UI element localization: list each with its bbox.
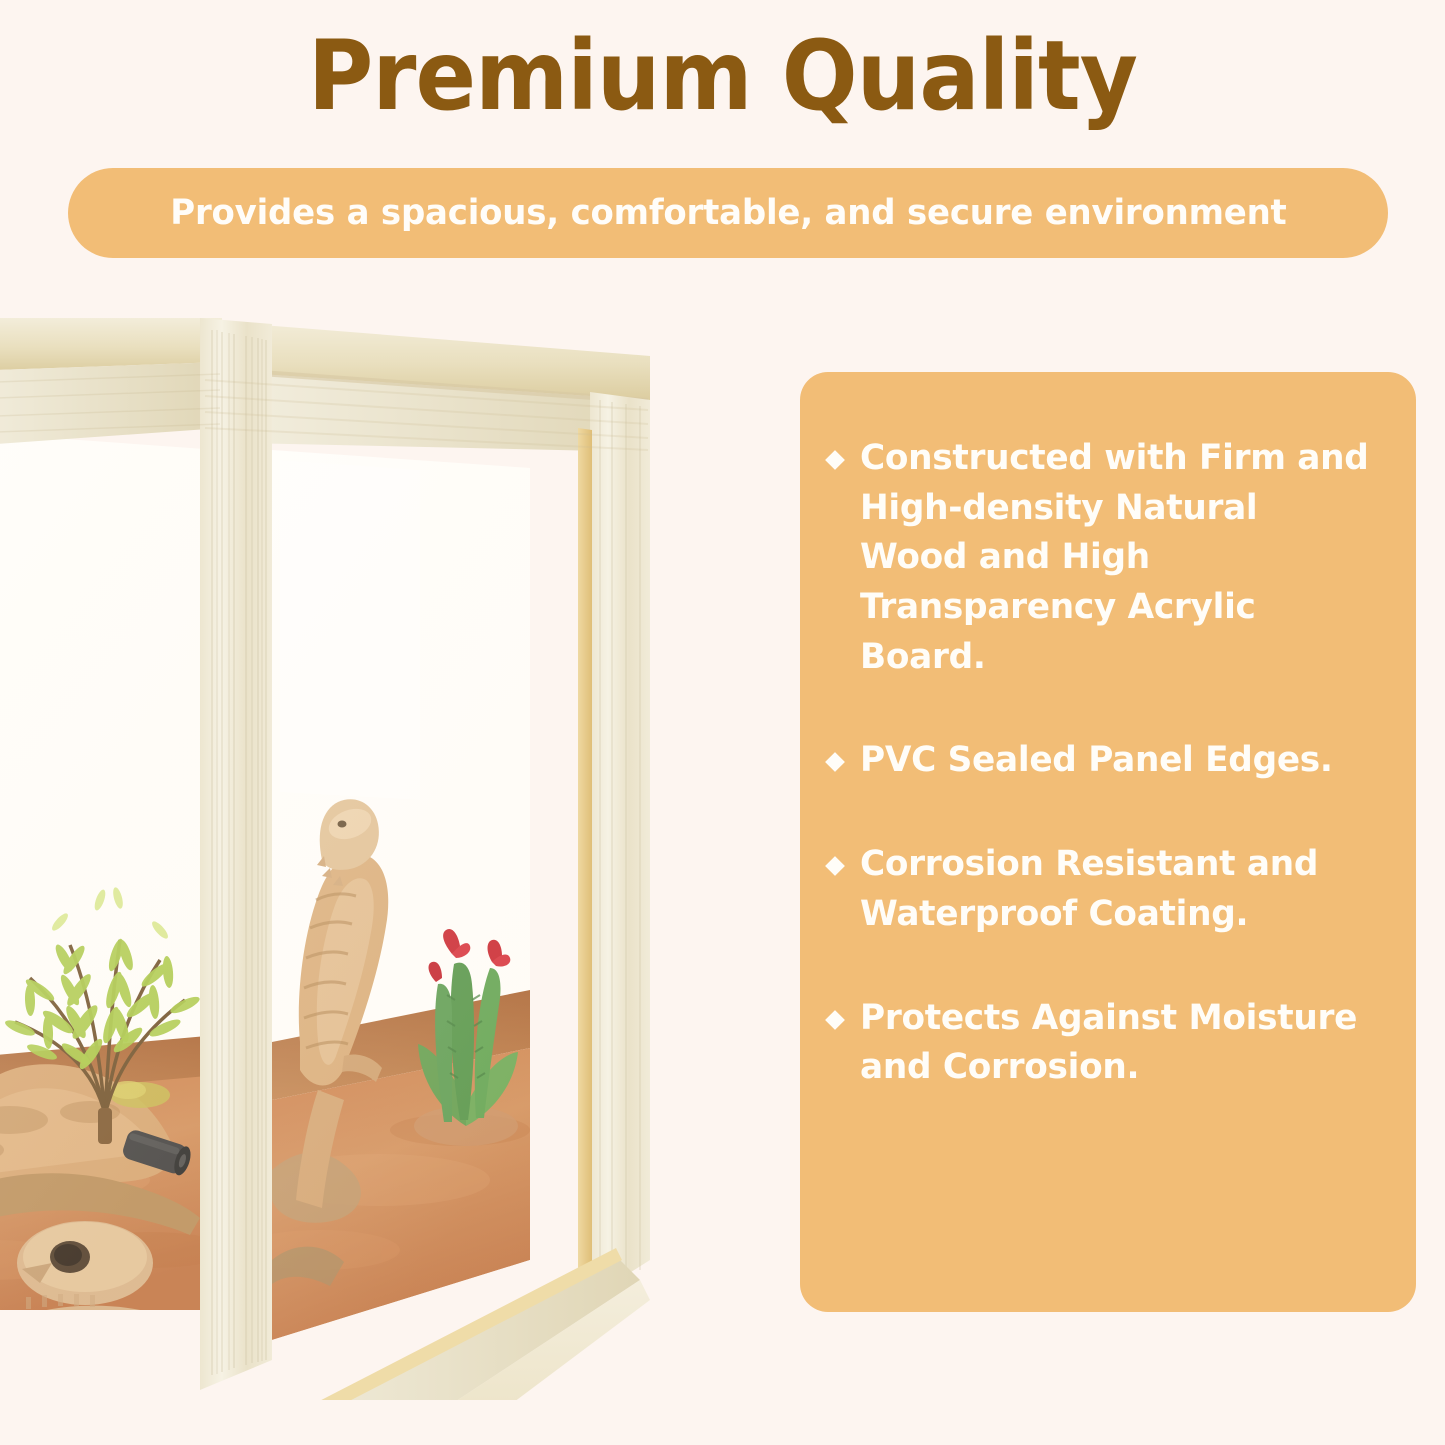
subtitle-banner: Provides a spacious, comfortable, and se… [68, 168, 1388, 258]
subtitle-text: Provides a spacious, comfortable, and se… [170, 193, 1286, 233]
product-photo-terrarium [0, 300, 700, 1400]
feature-item: Constructed with Firm and High-density N… [828, 434, 1382, 682]
terrarium-illustration [0, 300, 700, 1400]
feature-item: Corrosion Resistant and Waterproof Coati… [828, 840, 1382, 939]
diamond-bullet-icon [825, 450, 845, 470]
feature-text: Protects Against Moisture and Corrosion. [860, 994, 1372, 1093]
feature-text: Corrosion Resistant and Waterproof Coati… [860, 840, 1372, 939]
feature-text: Constructed with Firm and High-density N… [860, 434, 1372, 682]
feature-item: Protects Against Moisture and Corrosion. [828, 994, 1382, 1093]
diamond-bullet-icon [825, 856, 845, 876]
feature-text: PVC Sealed Panel Edges. [860, 736, 1333, 786]
diamond-bullet-icon [825, 753, 845, 773]
features-panel: Constructed with Firm and High-density N… [800, 372, 1416, 1312]
header: Premium Quality Provides a spacious, com… [0, 0, 1445, 300]
feature-item: PVC Sealed Panel Edges. [828, 736, 1382, 786]
page-title: Premium Quality [51, 28, 1395, 124]
diamond-bullet-icon [825, 1010, 845, 1030]
